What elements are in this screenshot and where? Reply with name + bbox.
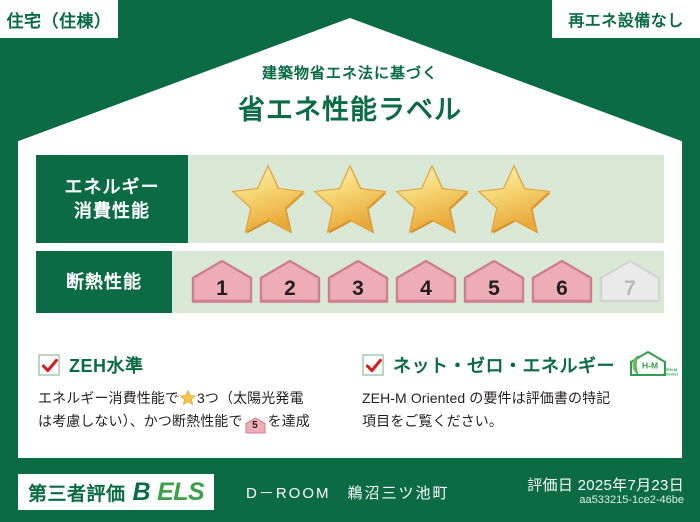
footer-bar: 第三者評価 BELS D－ROOM 鵜沼三ツ池町 評価日 2025年7月23日 … [0, 464, 700, 522]
zeh-star-count: 3つ（太陽光発電 [197, 390, 304, 406]
star-icon [476, 163, 552, 235]
title-subtitle: 建築物省エネ法に基づく [0, 62, 700, 83]
check-icon [41, 357, 59, 375]
insulation-level-6: 6 [528, 258, 596, 306]
zeh-text-2: は考慮しない）、かつ断熱性能で [38, 413, 243, 429]
insulation-level-number: 4 [420, 277, 432, 301]
star-rating [188, 155, 664, 243]
bels-logo-els: ELS [157, 478, 204, 507]
bels-label-jp: 第三者評価 [28, 479, 126, 506]
inline-house-badge: 5 [245, 417, 266, 432]
insulation-level-number: 7 [624, 277, 636, 301]
info-text-nze: ZEH-M Oriented の要件は評価書の特記 項目をご覧ください。 [362, 387, 674, 432]
row-energy-performance: エネルギー 消費性能 [36, 155, 664, 243]
svg-text:Oriented: Oriented [663, 372, 678, 377]
checkbox-zeh-level [38, 354, 60, 376]
bels-logo-b: B [133, 478, 151, 507]
info-title-nze: ネット・ゼロ・エネルギー [393, 352, 615, 378]
checkbox-net-zero-energy [362, 354, 384, 376]
inline-house-number: 5 [245, 417, 266, 434]
star-icon [312, 163, 388, 235]
insulation-level-scale: 1234567 [172, 251, 664, 313]
ratings-table: エネルギー 消費性能 断熱性能 1234567 [36, 155, 664, 321]
row-label-energy-line2: 消費性能 [74, 199, 150, 223]
insulation-level-1: 1 [188, 258, 256, 306]
insulation-level-7: 7 [596, 258, 664, 306]
insulation-level-3: 3 [324, 258, 392, 306]
svg-text:H-M: H-M [642, 361, 658, 371]
insulation-level-number: 5 [488, 277, 500, 301]
title-block: 建築物省エネ法に基づく 省エネ性能ラベル [0, 62, 700, 127]
info-head-nze: ネット・ゼロ・エネルギー H-M ZEH-M Oriented [362, 352, 674, 378]
bels-certification-badge: 第三者評価 BELS [18, 474, 214, 510]
zeh-text-3: を達成 [268, 413, 310, 429]
zeh-m-oriented-logo: H-M ZEH-M Oriented [626, 350, 678, 380]
info-block-zeh-level: ZEH水準 エネルギー消費性能で 3つ（太陽光発電 は考慮しない）、かつ断熱性能… [38, 352, 348, 432]
info-head-zeh: ZEH水準 [38, 352, 348, 378]
title-main: 省エネ性能ラベル [0, 88, 700, 127]
insulation-level-number: 1 [216, 277, 228, 301]
check-icon [365, 357, 383, 375]
tag-building-type: 住宅（住棟） [0, 0, 118, 38]
star-icon [394, 163, 470, 235]
row-label-energy: エネルギー 消費性能 [36, 155, 188, 243]
bels-energy-label: 住宅（住棟） 再エネ設備なし 建築物省エネ法に基づく 省エネ性能ラベル エネルギ… [0, 0, 700, 522]
nze-text-1: ZEH-M Oriented の要件は評価書の特記 [362, 390, 610, 406]
star-icon [230, 163, 306, 235]
nze-text-2: 項目をご覧ください。 [362, 413, 503, 429]
insulation-level-number: 2 [284, 277, 296, 301]
insulation-level-4: 4 [392, 258, 460, 306]
row-label-energy-line1: エネルギー [65, 175, 160, 199]
info-title-zeh: ZEH水準 [69, 352, 144, 378]
inline-star-icon [180, 389, 196, 404]
row-insulation-performance: 断熱性能 1234567 [36, 251, 664, 313]
row-label-insulation: 断熱性能 [36, 251, 172, 313]
insulation-level-number: 6 [556, 277, 568, 301]
zeh-text-1: エネルギー消費性能で [38, 390, 179, 406]
insulation-level-5: 5 [460, 258, 528, 306]
tag-renewable-energy: 再エネ設備なし [552, 0, 700, 38]
property-name: D－ROOM 鵜沼三ツ池町 [246, 482, 450, 503]
insulation-level-2: 2 [256, 258, 324, 306]
row-label-insulation-line1: 断熱性能 [66, 270, 142, 294]
info-block-net-zero-energy: ネット・ゼロ・エネルギー H-M ZEH-M Oriented [362, 352, 674, 432]
insulation-level-number: 3 [352, 277, 364, 301]
info-text-zeh: エネルギー消費性能で 3つ（太陽光発電 は考慮しない）、かつ断熱性能で 5を達成 [38, 387, 348, 432]
evaluation-id: aa533215-1ce2-46be [579, 494, 684, 506]
evaluation-date: 評価日 2025年7月23日 [527, 474, 684, 495]
